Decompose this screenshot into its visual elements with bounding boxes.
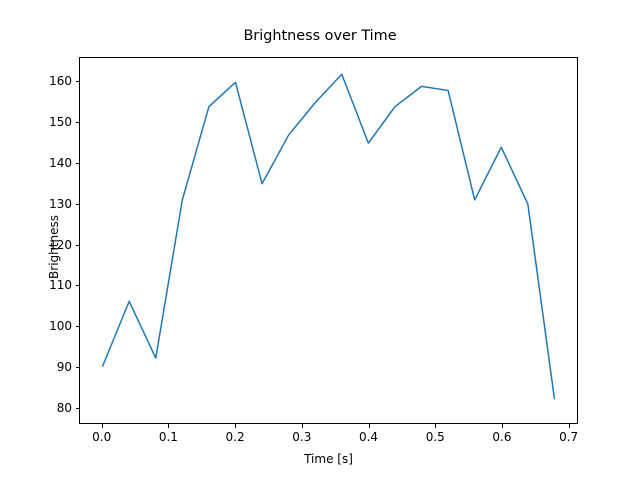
y-tick-label: 160 xyxy=(20,74,72,88)
x-tick-mark xyxy=(302,424,303,428)
x-axis-label: Time [s] xyxy=(79,452,578,466)
line-series-svg xyxy=(80,58,577,423)
x-tick-label: 0.6 xyxy=(492,430,511,444)
x-tick-mark xyxy=(102,424,103,428)
brightness-line-series xyxy=(103,74,555,398)
chart-title: Brightness over Time xyxy=(0,28,640,44)
y-tick-label: 130 xyxy=(20,197,72,211)
chart-figure: Brightness over Time Brightness Time [s]… xyxy=(0,0,640,480)
x-tick-mark xyxy=(569,424,570,428)
x-tick-mark xyxy=(435,424,436,428)
x-tick-mark xyxy=(235,424,236,428)
x-tick-label: 0.5 xyxy=(426,430,445,444)
x-tick-mark xyxy=(502,424,503,428)
y-tick-label: 80 xyxy=(20,401,72,415)
x-tick-label: 0.4 xyxy=(359,430,378,444)
y-tick-label: 110 xyxy=(20,278,72,292)
x-tick-label: 0.3 xyxy=(292,430,311,444)
y-tick-label: 120 xyxy=(20,238,72,252)
y-tick-label: 90 xyxy=(20,360,72,374)
x-tick-label: 0.2 xyxy=(226,430,245,444)
x-tick-label: 0.7 xyxy=(559,430,578,444)
x-tick-label: 0.0 xyxy=(92,430,111,444)
plot-area xyxy=(79,57,578,424)
x-tick-label: 0.1 xyxy=(159,430,178,444)
x-tick-mark xyxy=(369,424,370,428)
x-tick-mark xyxy=(168,424,169,428)
y-tick-label: 100 xyxy=(20,319,72,333)
y-tick-label: 140 xyxy=(20,156,72,170)
y-tick-label: 150 xyxy=(20,115,72,129)
